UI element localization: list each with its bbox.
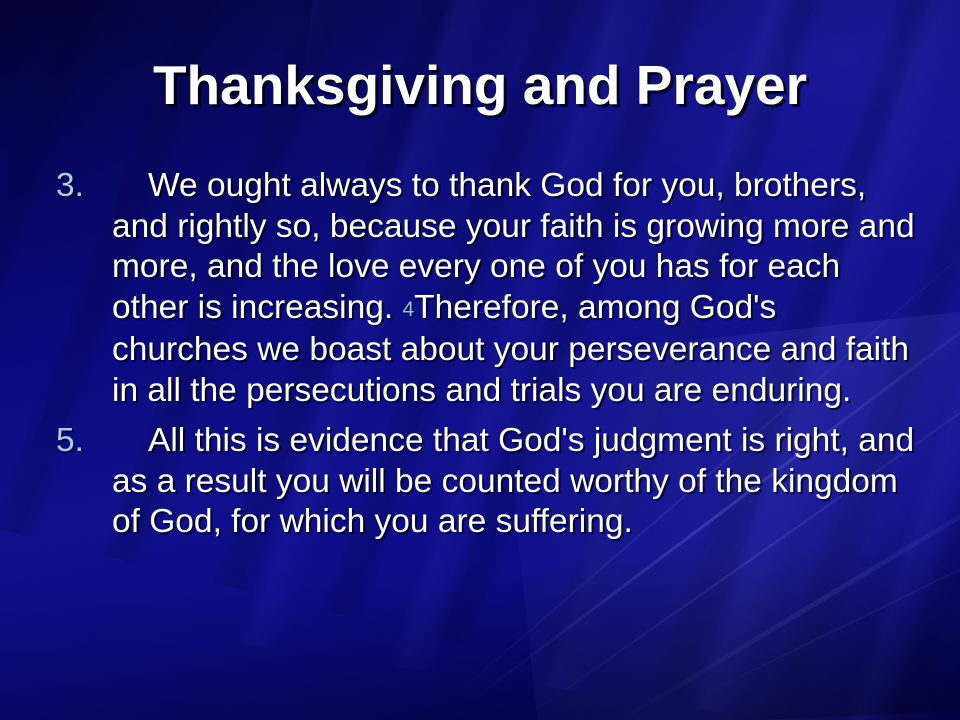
presentation-slide: Thanksgiving and Prayer 3. We ought alwa… xyxy=(0,0,960,720)
list-item-marker: 3. xyxy=(56,166,84,207)
slide-body-list: 3. We ought always to thank God for you,… xyxy=(48,166,920,543)
list-item-text-part-1: All this is evidence that God's judgment… xyxy=(112,422,914,540)
list-item: 5. All this is evidence that God's judgm… xyxy=(48,421,920,543)
list-item-marker: 5. xyxy=(56,421,84,462)
verse-number: 4 xyxy=(402,298,414,321)
list-item: 3. We ought always to thank God for you,… xyxy=(48,166,920,411)
slide-content: Thanksgiving and Prayer 3. We ought alwa… xyxy=(0,0,960,720)
slide-title: Thanksgiving and Prayer xyxy=(0,54,960,116)
